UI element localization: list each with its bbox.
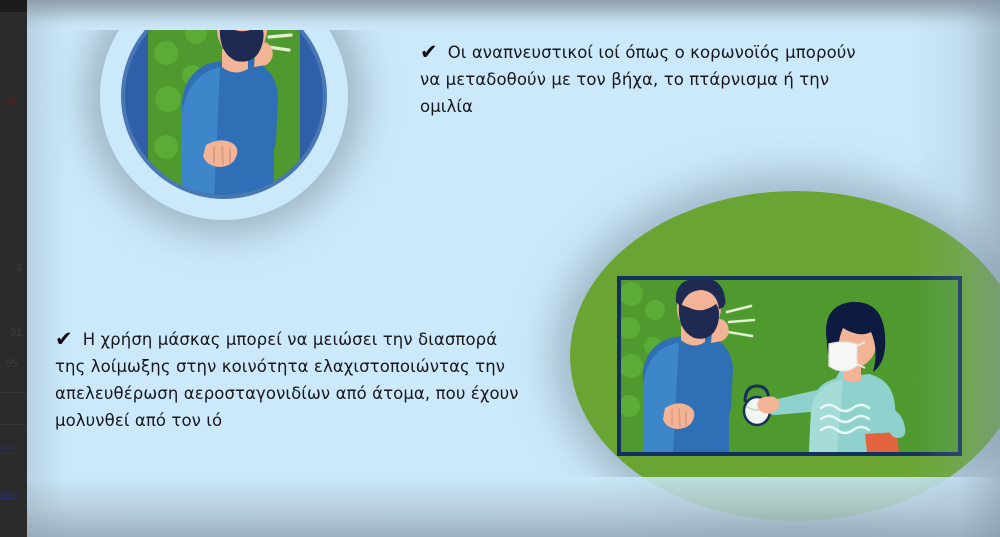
partially-occluded-browser-window[interactable]: 1.41 3 31 1.05 ports nnish	[0, 0, 27, 537]
mask-handover-illustration	[621, 280, 958, 452]
oval-image-backdrop	[570, 191, 1000, 521]
presentation-slide[interactable]: ✔Οι αναπνευστικοί ιοί όπως ο κορωνοϊός μ…	[27, 0, 1000, 537]
background-text-fragment-3: 31	[10, 327, 22, 339]
background-divider-2	[0, 424, 27, 425]
slide-left-edge-gradient	[27, 0, 67, 537]
screen: 1.41 3 31 1.05 ports nnish	[0, 0, 1000, 537]
circle-image-frame	[125, 0, 323, 195]
mask-handover-oval-image	[570, 191, 1000, 521]
background-divider-1	[0, 392, 27, 393]
bullet-item-2: ✔Η χρήση μάσκας μπορεί να μειώσει την δι…	[55, 326, 525, 434]
bullet-item-2-text: Η χρήση μάσκας μπορεί να μειώσει την δια…	[55, 330, 519, 430]
coughing-man-illustration	[148, 0, 300, 195]
background-text-fragment-4: 1.05	[0, 358, 17, 370]
coughing-man-circle-image	[100, 0, 348, 220]
bullet-item-1: ✔Οι αναπνευστικοί ιοί όπως ο κορωνοϊός μ…	[420, 39, 880, 120]
checkmark-icon: ✔	[55, 327, 73, 351]
background-link-fragment-2[interactable]: nnish	[0, 489, 18, 501]
checkmark-icon: ✔	[420, 40, 438, 64]
background-link-fragment-1[interactable]: ports	[0, 444, 16, 456]
background-window-top-shade	[0, 0, 27, 12]
oval-image-inner-frame	[617, 276, 962, 456]
background-text-fragment-1: 1.41	[0, 96, 17, 108]
background-text-fragment-2: 3	[16, 262, 22, 274]
bullet-item-1-text: Οι αναπνευστικοί ιοί όπως ο κορωνοϊός μπ…	[420, 43, 856, 116]
